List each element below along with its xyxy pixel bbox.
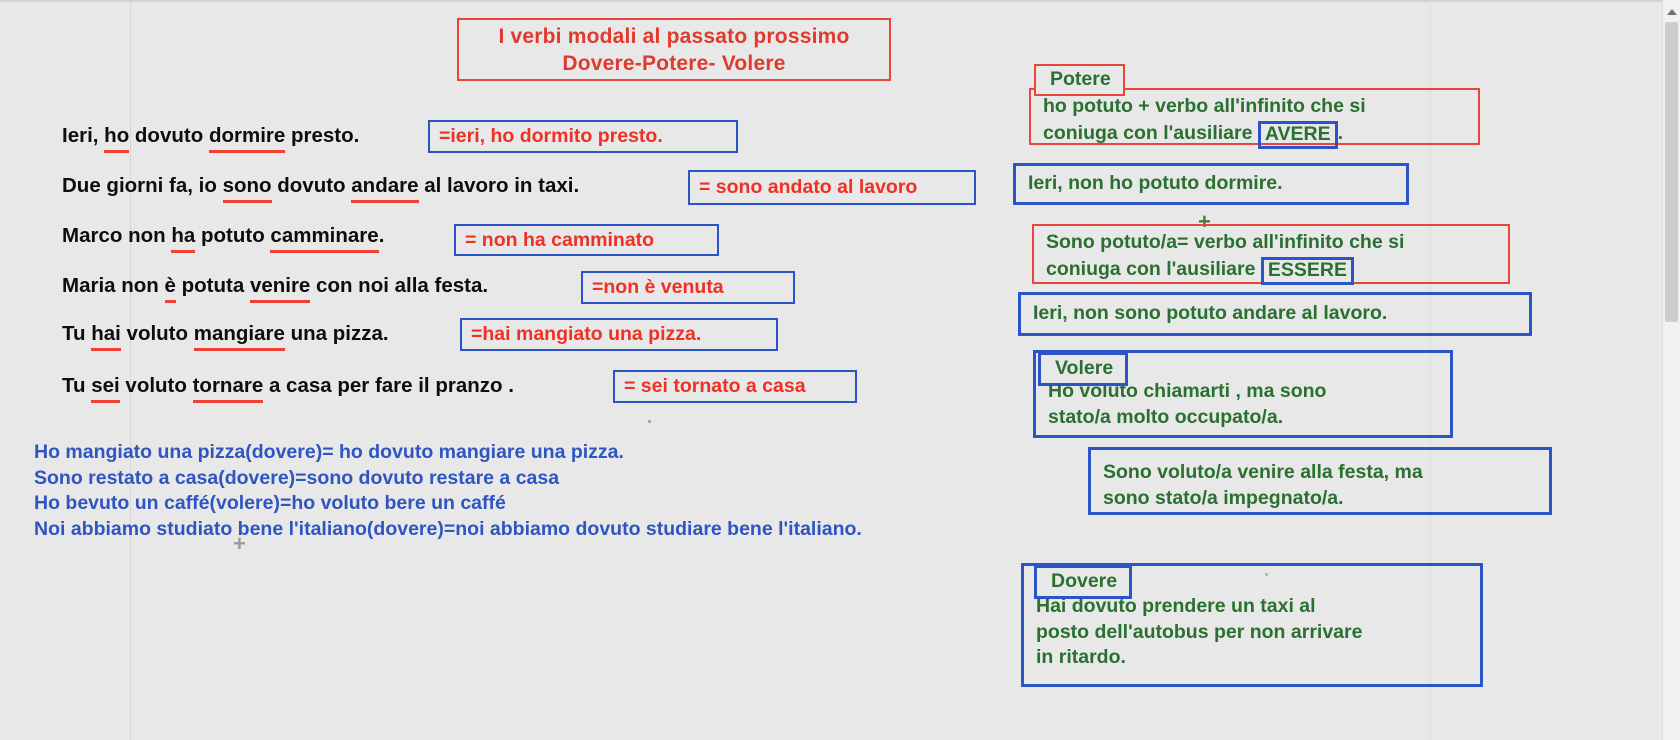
top-divider-rule	[0, 0, 1680, 2]
potere-example-essere-text: Ieri, non sono potuto andare al lavoro.	[1033, 301, 1387, 327]
sentence-4-text: Maria non è potuta venire con noi alla f…	[62, 274, 488, 297]
example-note-2-text: = sono andato al lavoro	[699, 176, 917, 199]
plain-segment: .	[379, 224, 385, 247]
example-sentence-5: Tu hai voluto mangiare una pizza.	[62, 322, 389, 346]
cursor-plus-marker-1: +	[233, 533, 246, 555]
potere-rule-essere-line-2: coniuga con l'ausiliare ESSERE	[1046, 256, 1498, 284]
stray-dot-1	[648, 420, 651, 423]
plain-segment: a casa per fare il pranzo .	[263, 374, 514, 397]
underlined-segment: è	[165, 274, 176, 298]
volere-line-2: stato/a molto occupato/a.	[1048, 405, 1440, 431]
underlined-segment: tornare	[193, 374, 264, 398]
example-note-3-text: = non ha camminato	[465, 229, 654, 252]
plain-segment: Ieri,	[62, 124, 104, 147]
plain-segment: con noi alla festa.	[310, 274, 488, 297]
underlined-segment: ha	[171, 224, 195, 248]
underlined-segment: mangiare	[194, 322, 285, 346]
plain-segment: Tu	[62, 374, 91, 397]
transformation-list: Ho mangiato una pizza(dovere)= ho dovuto…	[34, 440, 862, 542]
transformation-line-1: Ho mangiato una pizza(dovere)= ho dovuto…	[34, 440, 862, 466]
sentence-2-text: Due giorni fa, io sono dovuto andare al …	[62, 174, 579, 197]
plain-segment: dovuto	[272, 174, 352, 197]
volere-example-line-1: Sono voluto/a venire alla festa, ma	[1103, 460, 1539, 486]
transformation-line-4: Noi abbiamo studiato bene l'italiano(dov…	[34, 517, 862, 543]
example-sentence-4: Maria non è potuta venire con noi alla f…	[62, 274, 488, 298]
plain-segment: potuto	[195, 224, 270, 247]
underlined-segment: dormire	[209, 124, 285, 148]
title-box: I verbi modali al passato prossimo Dover…	[457, 18, 891, 81]
potere-rule-essere-line-1: Sono potuto/a= verbo all'infinito che si	[1046, 230, 1498, 256]
volere-label-chip: Volere	[1038, 352, 1128, 386]
sentence-3-text: Marco non ha potuto camminare.	[62, 224, 384, 247]
example-note-1: =ieri, ho dormito presto.	[428, 120, 738, 153]
plain-segment: voluto	[120, 374, 193, 397]
plain-segment: Maria non	[62, 274, 165, 297]
example-note-1-text: =ieri, ho dormito presto.	[439, 125, 663, 148]
scroll-up-arrow-icon[interactable]	[1663, 3, 1680, 20]
plain-segment: Marco non	[62, 224, 171, 247]
potere-example-avere-box: Ieri, non ho potuto dormire.	[1013, 163, 1409, 205]
plain-segment: dovuto	[129, 124, 209, 147]
plain-segment: una pizza.	[285, 322, 389, 345]
underlined-segment: ho	[104, 124, 129, 148]
transformation-line-3: Ho bevuto un caffé(volere)=ho voluto ber…	[34, 491, 862, 517]
transformation-line-2: Sono restato a casa(dovere)=sono dovuto …	[34, 466, 862, 492]
potere-rule-avere-box: ho potuto + verbo all'infinito che si co…	[1029, 88, 1480, 145]
potere-rule-avere-line-2: coniuga con l'ausiliare AVERE.	[1043, 120, 1468, 148]
example-sentence-6: Tu sei voluto tornare a casa per fare il…	[62, 374, 514, 398]
plain-segment: Due giorni fa, io	[62, 174, 223, 197]
document-canvas: I verbi modali al passato prossimo Dover…	[0, 0, 1680, 740]
volere-example-line-2: sono stato/a impegnato/a.	[1103, 486, 1539, 512]
dovere-line-3: in ritardo.	[1036, 645, 1470, 671]
potere-rule-avere-line-1: ho potuto + verbo all'infinito che si	[1043, 94, 1468, 120]
stray-dot-2	[1265, 573, 1268, 576]
scrollbar-thumb[interactable]	[1665, 22, 1678, 322]
example-note-4: =non è venuta	[581, 271, 795, 304]
vertical-scrollbar[interactable]	[1662, 0, 1680, 740]
plain-segment: presto.	[285, 124, 359, 147]
example-note-3: = non ha camminato	[454, 224, 719, 256]
example-note-2: = sono andato al lavoro	[688, 170, 976, 205]
underlined-segment: sei	[91, 374, 120, 398]
example-note-4-text: =non è venuta	[592, 276, 724, 299]
plain-segment: al lavoro in taxi.	[419, 174, 580, 197]
underlined-segment: sono	[223, 174, 272, 198]
dovere-line-2: posto dell'autobus per non arrivare	[1036, 620, 1470, 646]
volere-example-essere-box: Sono voluto/a venire alla festa, ma sono…	[1088, 447, 1552, 515]
sentence-6-text: Tu sei voluto tornare a casa per fare il…	[62, 374, 514, 397]
example-note-5: =hai mangiato una pizza.	[460, 318, 778, 351]
underlined-segment: venire	[250, 274, 310, 298]
sentence-5-text: Tu hai voluto mangiare una pizza.	[62, 322, 389, 345]
sentence-1-text: Ieri, ho dovuto dormire presto.	[62, 124, 359, 147]
auxiliary-essere-highlight: ESSERE	[1261, 257, 1354, 285]
plain-segment: potuta	[176, 274, 250, 297]
dovere-label-chip: Dovere	[1034, 565, 1132, 599]
plain-segment: voluto	[121, 322, 194, 345]
title-line-1: I verbi modali al passato prossimo	[459, 25, 889, 49]
underlined-segment: camminare	[270, 224, 378, 248]
potere-rule-essere-line-2-prefix: coniuga con l'ausiliare	[1046, 258, 1261, 280]
potere-label-chip: Potere	[1034, 64, 1125, 96]
potere-rule-avere-line-2-suffix: .	[1338, 122, 1343, 144]
example-note-5-text: =hai mangiato una pizza.	[471, 323, 701, 346]
example-sentence-1: Ieri, ho dovuto dormire presto.	[62, 124, 359, 148]
potere-rule-avere-line-2-prefix: coniuga con l'ausiliare	[1043, 122, 1258, 144]
example-sentence-3: Marco non ha potuto camminare.	[62, 224, 384, 248]
example-sentence-2: Due giorni fa, io sono dovuto andare al …	[62, 174, 579, 198]
potere-example-essere-box: Ieri, non sono potuto andare al lavoro.	[1018, 292, 1532, 336]
potere-rule-essere-box: Sono potuto/a= verbo all'infinito che si…	[1032, 224, 1510, 284]
example-note-6: = sei tornato a casa	[613, 370, 857, 403]
underlined-segment: andare	[351, 174, 418, 198]
auxiliary-avere-highlight: AVERE	[1258, 121, 1338, 149]
plain-segment: Tu	[62, 322, 91, 345]
potere-example-avere-text: Ieri, non ho potuto dormire.	[1028, 171, 1283, 197]
title-line-2: Dovere-Potere- Volere	[459, 52, 889, 76]
example-note-6-text: = sei tornato a casa	[624, 375, 806, 398]
underlined-segment: hai	[91, 322, 121, 346]
page-edge-line-left	[130, 0, 131, 740]
